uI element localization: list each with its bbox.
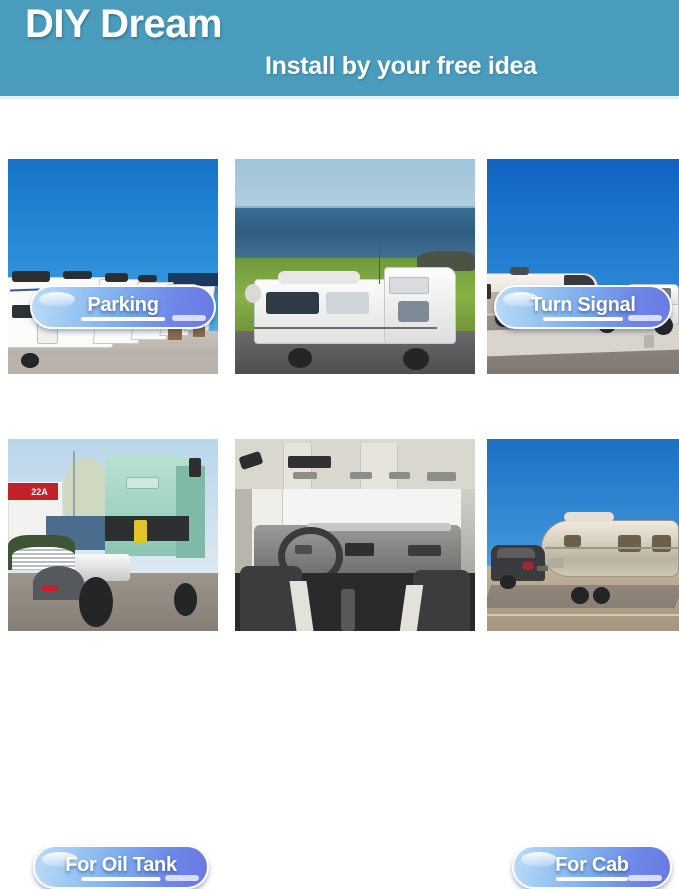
badge-for-oil-tank[interactable]: For Oil Tank — [33, 845, 209, 889]
panel-hitch-trailer[interactable]: Hitch&Trailer — [487, 159, 679, 374]
badge-underline — [543, 317, 623, 321]
page-header: DIY Dream Install by your free idea — [0, 0, 679, 99]
gear-lever — [341, 589, 355, 631]
roof-ac — [510, 267, 529, 276]
badge-label: For Oil Tank — [65, 854, 177, 877]
overhead-vent-4 — [427, 472, 456, 482]
ac-unit-4 — [138, 275, 157, 281]
hitch-coupler — [537, 566, 549, 572]
badge-turn-signal[interactable]: Turn Signal — [494, 285, 672, 329]
cab-under-shadow — [105, 516, 189, 541]
overhead-console — [288, 456, 331, 468]
panel-for-carriage[interactable]: For Carriage — [487, 439, 679, 631]
page-title: DIY Dream — [25, 2, 222, 47]
side-window-left — [266, 292, 319, 314]
roof-pod — [278, 271, 360, 284]
trailer-roof-vent — [564, 512, 614, 522]
ac-unit-1 — [12, 271, 50, 282]
page-subtitle: Install by your free idea — [265, 52, 537, 81]
badge-label: For Cab — [555, 854, 628, 877]
lot-pavement — [8, 355, 218, 374]
badge-for-cab[interactable]: For Cab — [512, 845, 672, 889]
body-stripe — [254, 327, 436, 329]
panel-for-oil-tank[interactable]: 22A For Oil Tank — [8, 439, 218, 631]
trailer-hatch — [548, 558, 563, 568]
cone-marker — [644, 335, 654, 348]
windshield — [398, 301, 429, 323]
photo-for-cab — [235, 439, 475, 631]
photo-hitch-trailer — [487, 159, 679, 374]
passenger-seat — [413, 570, 471, 631]
ac-unit-2 — [63, 271, 92, 280]
badge-underline — [81, 877, 160, 881]
dash-top-lip — [307, 523, 451, 531]
ceiling-panel-right — [360, 443, 398, 489]
badge-label: Parking — [87, 294, 158, 317]
panel-turn-signal[interactable]: Turn Signal — [235, 159, 475, 374]
overhead-vent-3 — [389, 472, 411, 480]
suv-tail-light — [523, 562, 533, 570]
side-mirror — [189, 458, 202, 477]
ac-unit-3 — [105, 273, 128, 282]
cab-badge-panel — [126, 477, 160, 489]
curtain — [235, 489, 252, 577]
trailer-window-1 — [564, 535, 581, 547]
instrument-cluster — [345, 543, 374, 556]
photo-parking — [8, 159, 218, 374]
badge-parking[interactable]: Parking — [30, 285, 216, 329]
badge-label: Turn Signal — [530, 294, 635, 317]
trailer-wheel-rear — [593, 587, 610, 604]
photo-turn-signal — [235, 159, 475, 374]
light-pole — [73, 451, 75, 516]
trailer-belt-line — [545, 547, 679, 549]
side-window-right — [326, 292, 369, 314]
suv-wheel — [500, 575, 515, 588]
trailer-window — [487, 284, 491, 299]
trailer-window-3 — [652, 535, 671, 552]
badge-underline — [556, 877, 628, 881]
parking-line — [487, 614, 679, 616]
photo-for-oil-tank: 22A — [8, 439, 218, 631]
building-number-label: 22A — [27, 485, 52, 498]
badge-underline — [81, 317, 165, 321]
suv-windows — [497, 548, 535, 558]
trailer-wheel — [21, 353, 40, 368]
photo-for-carriage — [487, 439, 679, 631]
panel-for-cab[interactable]: For Cab — [235, 439, 475, 631]
wheel-rear — [288, 348, 312, 367]
steering-wheel-hub — [295, 545, 312, 555]
front-wheel — [174, 583, 197, 616]
trailer-wheel-front — [571, 587, 588, 604]
mud-flap-fender — [33, 566, 83, 601]
panel-parking[interactable]: Parking — [8, 159, 218, 374]
rear-wheel — [79, 577, 113, 627]
wheel-front — [403, 348, 429, 370]
trailer-window-2 — [618, 535, 641, 552]
tail-light — [42, 585, 59, 591]
center-controls — [408, 545, 442, 557]
lamp-post — [379, 236, 380, 283]
feature-grid: Parking Turn Signal — [0, 99, 679, 631]
yellow-hose — [134, 520, 147, 543]
horizon-line — [235, 206, 475, 208]
overhead-vent-1 — [293, 472, 317, 480]
truck-sleeper — [176, 466, 205, 558]
over-cab-window — [389, 277, 430, 294]
cab-ceiling — [235, 439, 475, 489]
overhead-vent-2 — [350, 472, 372, 480]
